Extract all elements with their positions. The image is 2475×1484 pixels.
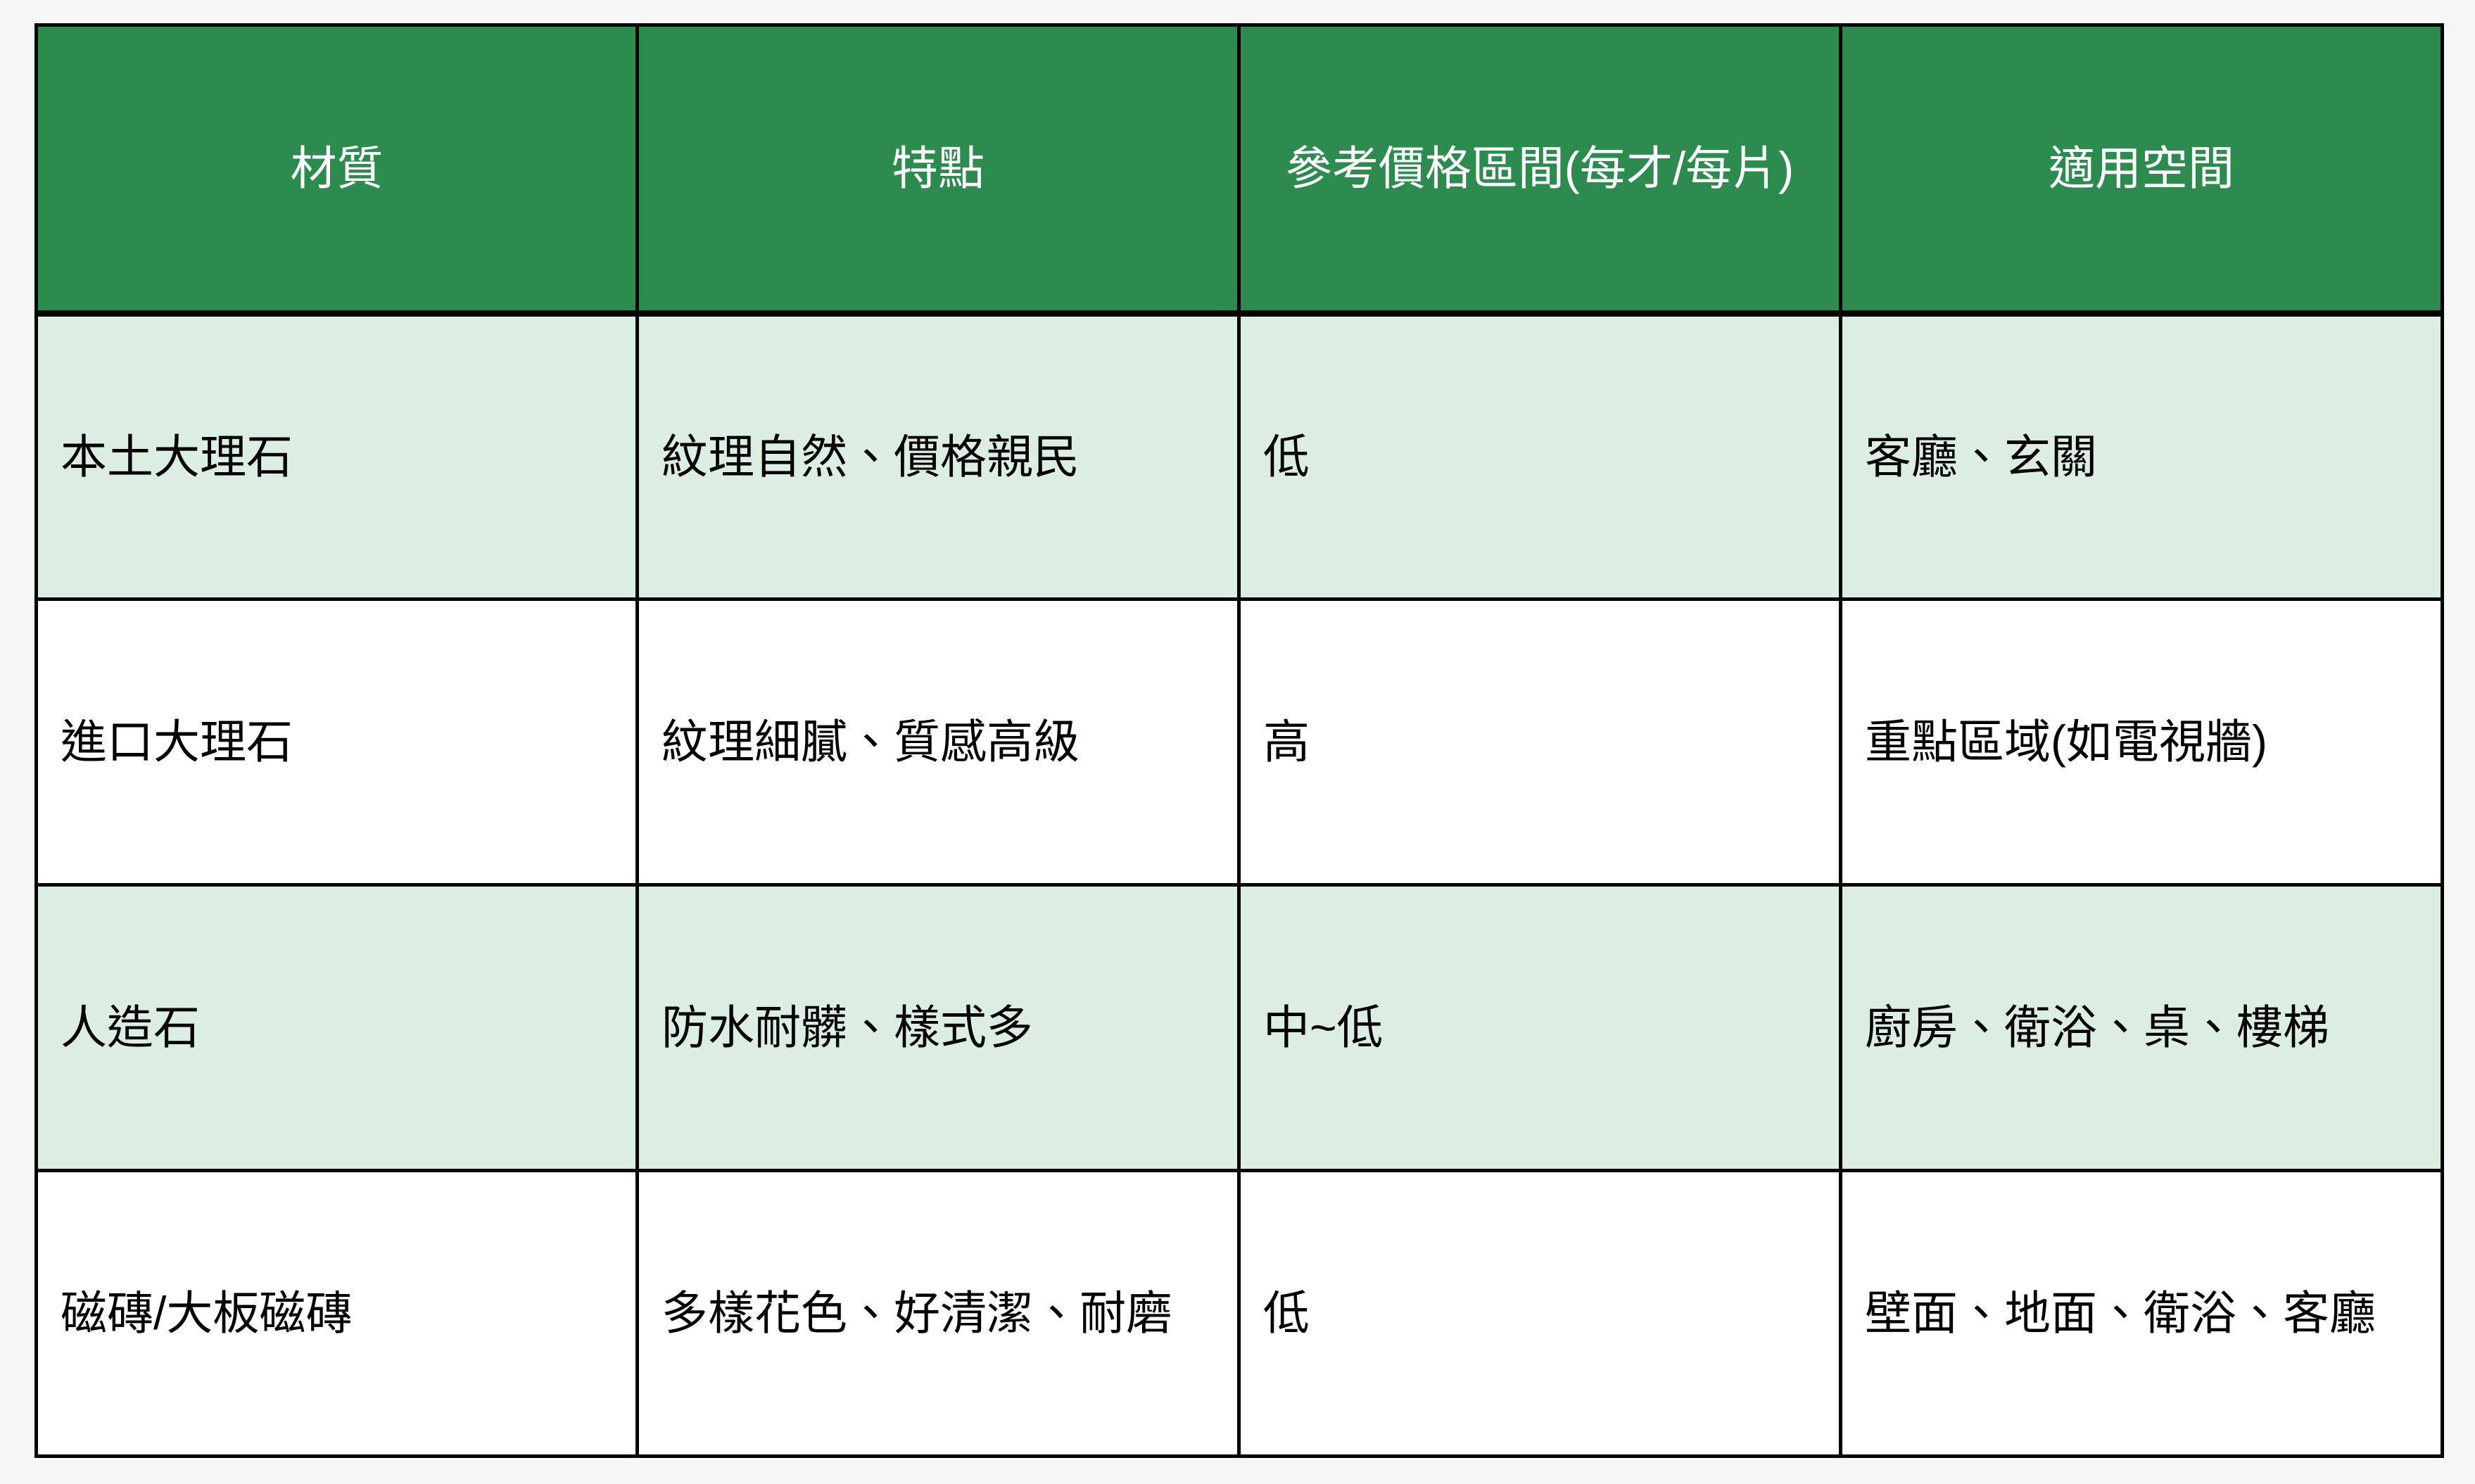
cell-features: 防水耐髒、樣式多 (638, 885, 1239, 1171)
column-header-spaces: 適用空間 (1841, 25, 2443, 314)
cell-material: 磁磚/大板磁磚 (37, 1171, 638, 1457)
table-header: 材質 特點 參考價格區間(每才/每片) 適用空間 (37, 25, 2443, 314)
comparison-table-container: 材質 特點 參考價格區間(每才/每片) 適用空間 本土大理石 紋理自然、價格親民… (34, 23, 2441, 1458)
column-header-material: 材質 (37, 25, 638, 314)
cell-price-range: 低 (1239, 314, 1841, 600)
cell-material: 人造石 (37, 885, 638, 1171)
cell-spaces: 廚房、衛浴、桌、樓梯 (1841, 885, 2443, 1171)
cell-price-range: 中~低 (1239, 885, 1841, 1171)
cell-material: 進口大理石 (37, 600, 638, 885)
table-row: 本土大理石 紋理自然、價格親民 低 客廳、玄關 (37, 314, 2443, 600)
table-row: 進口大理石 紋理細膩、質感高級 高 重點區域(如電視牆) (37, 600, 2443, 885)
cell-features: 紋理自然、價格親民 (638, 314, 1239, 600)
cell-features: 多樣花色、好清潔、耐磨 (638, 1171, 1239, 1457)
table-header-row: 材質 特點 參考價格區間(每才/每片) 適用空間 (37, 25, 2443, 314)
table-row: 磁磚/大板磁磚 多樣花色、好清潔、耐磨 低 壁面、地面、衛浴、客廳 (37, 1171, 2443, 1457)
column-header-price-range: 參考價格區間(每才/每片) (1239, 25, 1841, 314)
cell-spaces: 重點區域(如電視牆) (1841, 600, 2443, 885)
table-body: 本土大理石 紋理自然、價格親民 低 客廳、玄關 進口大理石 紋理細膩、質感高級 … (37, 314, 2443, 1457)
table-row: 人造石 防水耐髒、樣式多 中~低 廚房、衛浴、桌、樓梯 (37, 885, 2443, 1171)
cell-spaces: 客廳、玄關 (1841, 314, 2443, 600)
cell-features: 紋理細膩、質感高級 (638, 600, 1239, 885)
column-header-features: 特點 (638, 25, 1239, 314)
cell-spaces: 壁面、地面、衛浴、客廳 (1841, 1171, 2443, 1457)
material-comparison-table: 材質 特點 參考價格區間(每才/每片) 適用空間 本土大理石 紋理自然、價格親民… (34, 23, 2444, 1458)
cell-material: 本土大理石 (37, 314, 638, 600)
cell-price-range: 低 (1239, 1171, 1841, 1457)
cell-price-range: 高 (1239, 600, 1841, 885)
